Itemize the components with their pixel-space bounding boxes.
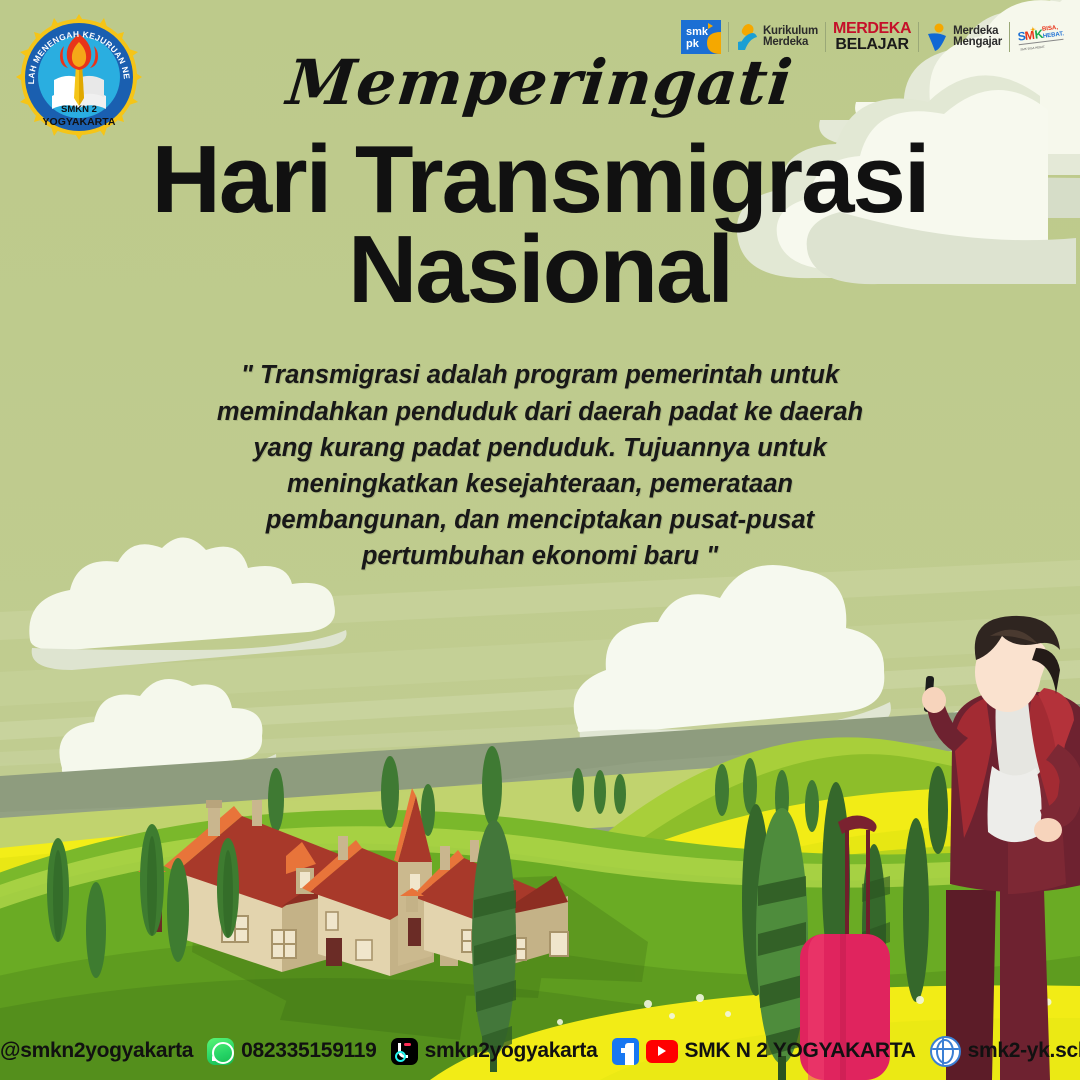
poster: Memperingati Hari Transmigrasi Nasional … [0, 0, 1080, 1080]
quote-paragraph: " Transmigrasi adalah program pemerintah… [210, 357, 870, 574]
smk-pk-mark: smk pk [681, 20, 721, 54]
tiktok-icon[interactable] [391, 1038, 418, 1065]
quote-line: yang kurang padat penduduk. Tujuannya un… [210, 430, 870, 466]
svg-text:pk: pk [686, 38, 700, 50]
svg-text:✦: ✦ [1030, 26, 1037, 35]
social-page-name[interactable]: SMK N 2 YOGYAKARTA [685, 1039, 916, 1063]
quote-line: " Transmigrasi adalah program pemerintah… [210, 357, 870, 393]
merdeka-belajar-label-1: MERDEKA [833, 21, 911, 37]
page-title: Hari Transmigrasi Nasional [0, 135, 1080, 315]
quote-line: meningkatkan kesejahteraan, pemerataan [210, 466, 870, 502]
partner-logo-bar: smk pk Kurikulum Merdeka MERDEKA BELAJAR [674, 14, 1072, 60]
tiktok-handle[interactable]: smkn2yogyakarta [425, 1039, 598, 1063]
merdeka-mengajar-logo: Merdeka Mengajar [919, 15, 1009, 59]
kurikulum-merdeka-mark [736, 22, 758, 52]
smkn2-yogyakarta-logo: SEKOLAH MENENGAH KEJURUAN NEGERI 2 SMKN … [14, 12, 144, 142]
svg-text:SMK BISA HEBAT: SMK BISA HEBAT [1020, 45, 1045, 52]
merdeka-mengajar-mark [926, 22, 948, 52]
svg-text:HEBAT.: HEBAT. [1043, 31, 1065, 40]
smk-pk-logo: smk pk [674, 15, 728, 59]
globe-icon[interactable] [930, 1036, 961, 1067]
merdeka-belajar-label-2: BELAJAR [833, 37, 911, 53]
page-title-line1: Hari Transmigrasi [60, 135, 1020, 225]
whatsapp-icon[interactable] [207, 1038, 234, 1065]
quote-line: pembangunan, dan menciptakan pusat-pusat [210, 502, 870, 538]
svg-text:smk: smk [686, 26, 709, 38]
website-url[interactable]: smk2-yk.sch.id [968, 1039, 1080, 1063]
whatsapp-number[interactable]: 082335159119 [241, 1039, 376, 1063]
instagram-handle[interactable]: @smkn2yogyakarta [0, 1039, 193, 1063]
merdeka-mengajar-label-2: Mengajar [953, 37, 1002, 49]
page-title-line2: Nasional [60, 225, 1020, 315]
kurikulum-merdeka-logo: Kurikulum Merdeka [729, 15, 825, 59]
kurikulum-merdeka-label-2: Merdeka [763, 37, 818, 49]
facebook-icon[interactable] [612, 1038, 639, 1065]
smk-bisa-hebat-mark: S M K ✦ BISA, HEBAT. SMK BISA HEBAT [1017, 22, 1065, 52]
logo-center-text-2: YOGYAKARTA [43, 116, 116, 128]
youtube-icon[interactable] [646, 1040, 678, 1063]
headline-block: Memperingati Hari Transmigrasi Nasional … [0, 0, 1080, 575]
quote-line: memindahkan penduduk dari daerah padat k… [210, 394, 870, 430]
merdeka-belajar-logo: MERDEKA BELAJAR [826, 15, 918, 59]
logo-center-text-1: SMKN 2 [61, 104, 97, 115]
contact-bar: @smkn2yogyakarta 082335159119 smkn2yogya… [0, 1022, 1080, 1080]
quote-line: pertumbuhan ekonomi baru " [210, 538, 870, 574]
smk-bisa-hebat-logo: S M K ✦ BISA, HEBAT. SMK BISA HEBAT [1010, 15, 1072, 59]
